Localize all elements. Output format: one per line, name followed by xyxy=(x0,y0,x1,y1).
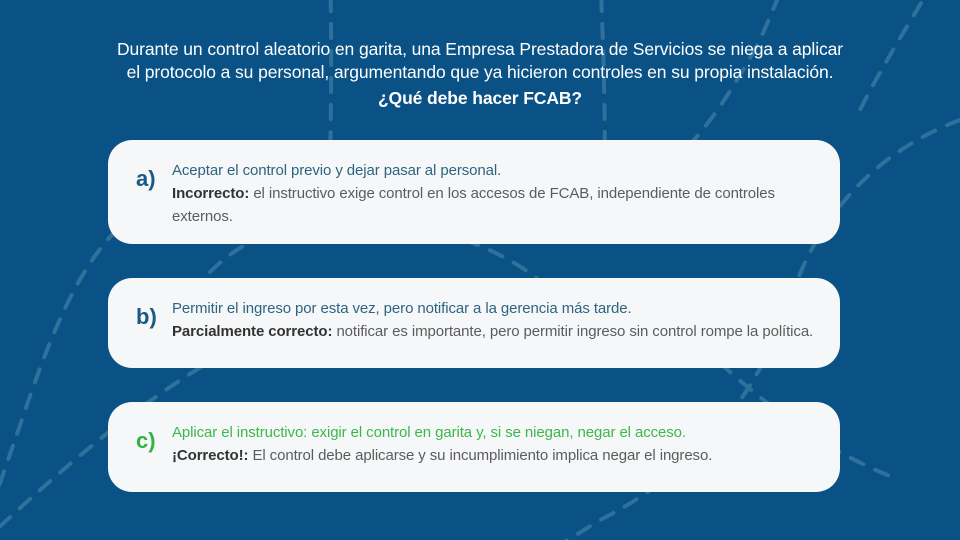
answer-verdict-a: Incorrecto: xyxy=(172,185,249,202)
answer-explanation-a: Incorrecto: el instructivo exige control… xyxy=(172,182,820,228)
answer-explanation-c: ¡Correcto!: El control debe aplicarse y … xyxy=(172,444,820,467)
answer-card-b[interactable]: b) Permitir el ingreso por esta vez, per… xyxy=(108,278,840,368)
answer-card-list: a) Aceptar el control previo y dejar pas… xyxy=(108,140,840,492)
answer-explanation-text-a: el instructivo exige control en los acce… xyxy=(172,185,775,225)
answer-verdict-b: Parcialmente correcto: xyxy=(172,323,332,340)
answer-explanation-b: Parcialmente correcto: notificar es impo… xyxy=(172,320,820,343)
question-block: Durante un control aleatorio en garita, … xyxy=(0,38,960,111)
answer-marker-c: c) xyxy=(128,416,172,454)
question-line-2: el protocolo a su personal, argumentando… xyxy=(60,61,900,84)
answer-card-a[interactable]: a) Aceptar el control previo y dejar pas… xyxy=(108,140,840,244)
answer-marker-b: b) xyxy=(128,292,172,330)
answer-title-a: Aceptar el control previo y dejar pasar … xyxy=(172,159,820,182)
answer-explanation-text-b: notificar es importante, pero permitir i… xyxy=(332,323,813,340)
question-line-1: Durante un control aleatorio en garita, … xyxy=(60,38,900,61)
answer-body-b: Permitir el ingreso por esta vez, pero n… xyxy=(172,292,820,343)
answer-verdict-c: ¡Correcto!: xyxy=(172,447,248,464)
question-emphasis: ¿Qué debe hacer FCAB? xyxy=(60,86,900,111)
answer-card-c[interactable]: c) Aplicar el instructivo: exigir el con… xyxy=(108,402,840,492)
answer-marker-a: a) xyxy=(128,154,172,192)
answer-explanation-text-c: El control debe aplicarse y su incumplim… xyxy=(248,447,712,464)
answer-title-b: Permitir el ingreso por esta vez, pero n… xyxy=(172,297,820,320)
answer-title-c: Aplicar el instructivo: exigir el contro… xyxy=(172,421,820,444)
answer-body-a: Aceptar el control previo y dejar pasar … xyxy=(172,154,820,228)
answer-body-c: Aplicar el instructivo: exigir el contro… xyxy=(172,416,820,467)
